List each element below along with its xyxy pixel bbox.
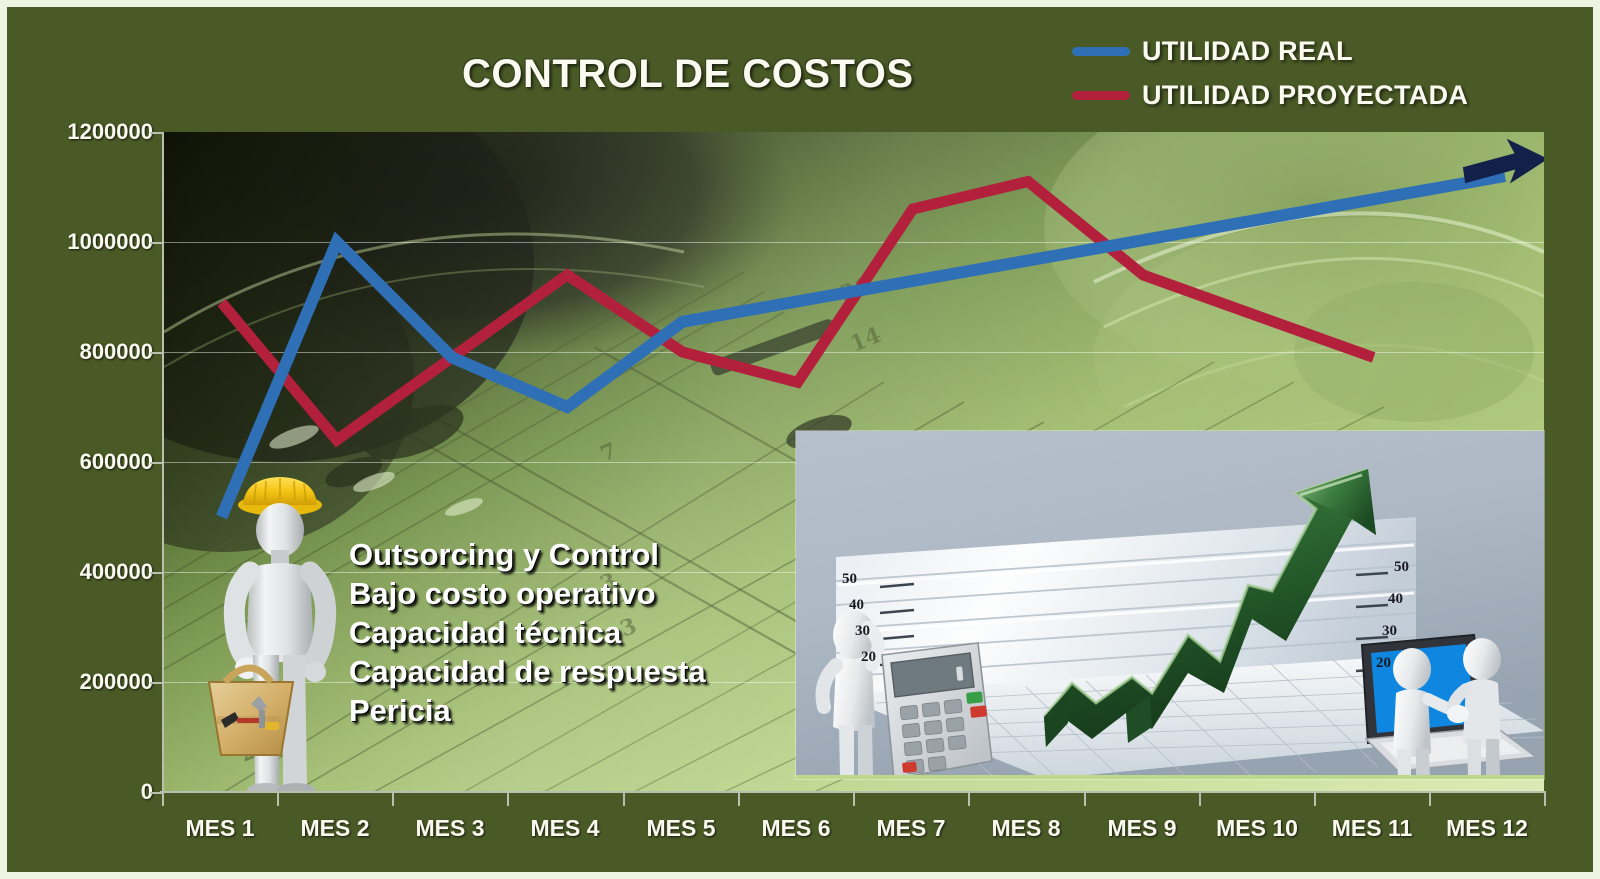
x-axis-label-mes-10: MES 10: [1216, 815, 1298, 842]
legend-swatch-real: [1072, 47, 1130, 56]
x-axis-label-mes-1: MES 1: [185, 815, 254, 842]
series-line-utilidad-proyectada: [222, 182, 1374, 441]
inset-growth-chart-image: 50 40 30 20 50 40 30 20: [796, 431, 1544, 779]
chart-legend: UTILIDAD REAL UTILIDAD PROYECTADA: [1072, 29, 1468, 117]
inset-right-tick-50: 50: [1394, 559, 1409, 576]
x-tickmark: [738, 793, 740, 806]
y-tick-label: 1000000: [67, 229, 153, 255]
legend-item-utilidad-real: UTILIDAD REAL: [1072, 29, 1468, 73]
x-axis-label-mes-9: MES 9: [1107, 815, 1176, 842]
x-tickmark: [968, 793, 970, 806]
y-axis: 1200000 1000000 800000 600000 400000 200…: [7, 7, 153, 879]
inset-right-tick-40: 40: [1388, 591, 1403, 608]
x-axis-label-mes-6: MES 6: [761, 815, 830, 842]
x-tickmark: [507, 793, 509, 806]
legend-swatch-proyectada: [1072, 91, 1130, 100]
inset-left-tick-40: 40: [849, 597, 864, 614]
inset-right-tick-30: 30: [1382, 623, 1397, 640]
x-tickmark: [162, 793, 164, 806]
inset-left-tick-20: 20: [861, 649, 876, 666]
x-axis-label-mes-7: MES 7: [876, 815, 945, 842]
calculator-icon: [882, 643, 992, 779]
x-axis-label-mes-11: MES 11: [1332, 815, 1413, 842]
legend-label-proyectada: UTILIDAD PROYECTADA: [1142, 80, 1468, 111]
x-axis-label-mes-5: MES 5: [646, 815, 715, 842]
x-tickmark: [277, 793, 279, 806]
y-tick-label: 600000: [80, 449, 153, 475]
page-title: CONTROL DE COSTOS: [462, 52, 914, 97]
x-axis-label-mes-4: MES 4: [530, 815, 599, 842]
y-tick-label: 400000: [80, 559, 153, 585]
x-tickmark: [1544, 793, 1546, 806]
x-axis-label-mes-12: MES 12: [1446, 815, 1528, 842]
toolbox-icon: [209, 668, 293, 755]
benefit-item-bajo-costo: Bajo costo operativo: [349, 574, 706, 613]
benefit-item-capacidad-respuesta: Capacidad de respuesta: [349, 652, 706, 691]
x-axis-label-mes-8: MES 8: [991, 815, 1060, 842]
x-tickmark: [1084, 793, 1086, 806]
benefit-item-capacidad-tecnica: Capacidad técnica: [349, 613, 706, 652]
benefit-item-pericia: Pericia: [349, 691, 706, 730]
legend-item-utilidad-proyectada: UTILIDAD PROYECTADA: [1072, 73, 1468, 117]
x-tickmark: [392, 793, 394, 806]
x-tickmark: [623, 793, 625, 806]
inset-left-tick-50: 50: [842, 571, 857, 588]
x-axis-label-mes-2: MES 2: [300, 815, 369, 842]
benefit-item-outsourcing: Outsorcing y Control: [349, 535, 706, 574]
legend-label-real: UTILIDAD REAL: [1142, 36, 1353, 67]
overlay-benefits-list: Outsorcing y Control Bajo costo operativ…: [349, 535, 706, 730]
x-axis-label-mes-3: MES 3: [415, 815, 484, 842]
inset-left-tick-30: 30: [855, 623, 870, 640]
x-tickmark: [853, 793, 855, 806]
x-tickmark: [1199, 793, 1201, 806]
x-tickmark: [1314, 793, 1316, 806]
construction-worker-figure: [205, 472, 355, 792]
chart-poster: CONTROL DE COSTOS UTILIDAD REAL UTILIDAD…: [0, 0, 1600, 879]
y-tick-label: 1200000: [67, 119, 153, 145]
inset-right-tick-20: 20: [1376, 655, 1391, 672]
y-tick-label: 800000: [80, 339, 153, 365]
y-tick-label: 200000: [80, 669, 153, 695]
x-tickmark: [1429, 793, 1431, 806]
